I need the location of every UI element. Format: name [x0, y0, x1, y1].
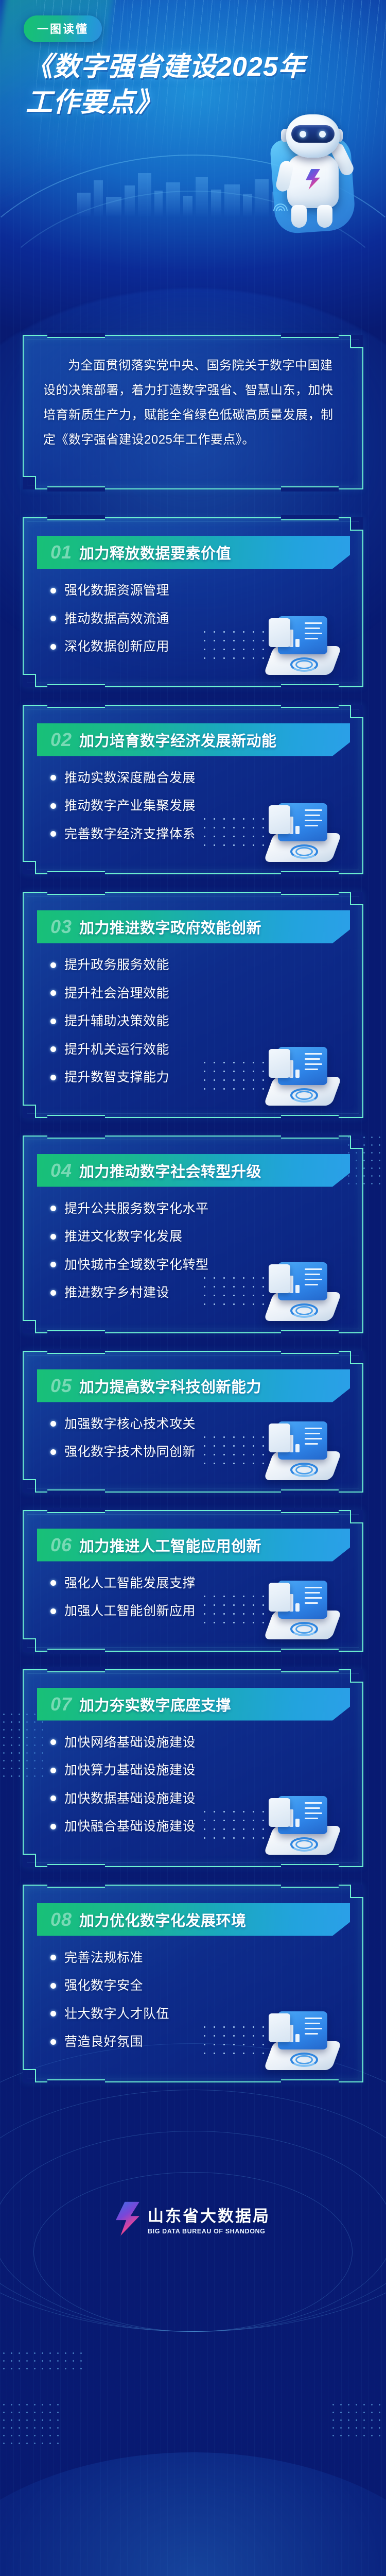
bullet-dot-icon	[50, 1608, 56, 1614]
section-header-ribbon: 02 加力培育数字经济发展新动能	[37, 723, 350, 756]
section-header-ribbon: 06 加力推进人工智能应用创新	[37, 1529, 350, 1562]
section-frame: 03 加力推进数字政府效能创新 提升政务服务效能 提升社会治理效能 提升辅助决策…	[23, 892, 363, 1118]
bullet-dot-icon	[50, 962, 56, 968]
section-title: 加力提高数字科技创新能力	[79, 1375, 261, 1397]
section-bullet-label: 强化数据资源管理	[64, 582, 169, 599]
footer-org-name-en: BIG DATA BUREAU OF SHANDONG	[148, 2228, 270, 2235]
section-bullet-label: 推动数据高效流通	[64, 611, 169, 628]
section-bullets: 加快网络基础设施建设 加快算力基础设施建设 加快数据基础设施建设 加快融合基础设…	[24, 1721, 362, 1849]
dot-grid	[329, 2401, 386, 2442]
section-bullet: 推进文化数字化发展	[50, 1228, 362, 1245]
section-bullets: 加强数字核心技术攻关 强化数字技术协同创新	[24, 1402, 362, 1474]
bullet-dot-icon	[50, 1739, 56, 1745]
section-bullets: 完善法规标准 强化数字安全 壮大数字人才队伍 营造良好氛围	[24, 1936, 362, 2064]
bullet-dot-icon	[50, 1019, 56, 1024]
section-bullet-label: 加快融合基础设施建设	[64, 1818, 196, 1835]
section-frame: 02 加力培育数字经济发展新动能 推动实数深度融合发展 推动数字产业集聚发展 完…	[23, 705, 363, 875]
section-bullet: 加快算力基础设施建设	[50, 1762, 362, 1779]
section-header-ribbon: 07 加力夯实数字底座支撑	[37, 1688, 350, 1721]
section-bullet: 加快数据基础设施建设	[50, 1790, 362, 1807]
section-number: 02	[50, 731, 72, 749]
section-bullet-label: 完善数字经济支撑体系	[64, 826, 196, 843]
bullet-dot-icon	[50, 990, 56, 996]
section-frame: 07 加力夯实数字底座支撑 加快网络基础设施建设 加快算力基础设施建设 加快数据…	[23, 1669, 363, 1867]
section-number: 01	[50, 543, 72, 562]
bullet-dot-icon	[50, 1046, 56, 1052]
mascot-visor	[291, 125, 335, 143]
section-bullets: 强化数据资源管理 推动数据高效流通 深化数据创新应用	[24, 569, 362, 669]
section-bullet: 壮大数字人才队伍	[50, 2006, 362, 2023]
section-title: 加力推进数字政府效能创新	[79, 916, 261, 938]
section-bullet: 提升政务服务效能	[50, 957, 362, 974]
section-bullet: 营造良好氛围	[50, 2033, 362, 2050]
section-card: 07 加力夯实数字底座支撑 加快网络基础设施建设 加快算力基础设施建设 加快数据…	[23, 1669, 363, 1867]
bullet-dot-icon	[50, 588, 56, 594]
bullet-dot-icon	[50, 1955, 56, 1960]
section-bullet: 推动实数深度融合发展	[50, 770, 362, 787]
mascot-eye-right	[319, 131, 326, 138]
section-bullet: 加快城市全域数字化转型	[50, 1257, 362, 1274]
section-number: 03	[50, 918, 72, 936]
intro-section: 为全面贯彻落实党中央、国务院关于数字中国建设的决策部署，着力打造数字强省、智慧山…	[0, 330, 386, 489]
section-number: 07	[50, 1695, 72, 1714]
section-header-ribbon: 04 加力推动数字社会转型升级	[37, 1154, 350, 1187]
bullet-dot-icon	[50, 1075, 56, 1080]
intro-paragraph: 为全面贯彻落实党中央、国务院关于数字中国建设的决策部署，着力打造数字强省、智慧山…	[24, 336, 362, 471]
section-bullet-label: 加强数字核心技术攻关	[64, 1416, 196, 1433]
section-bullet: 推动数据高效流通	[50, 611, 362, 628]
section-title: 加力推动数字社会转型升级	[79, 1160, 261, 1181]
section-bullet-label: 加快城市全域数字化转型	[64, 1257, 209, 1274]
section-bullet-label: 提升政务服务效能	[64, 957, 169, 974]
section-bullets: 提升政务服务效能 提升社会治理效能 提升辅助决策效能 提升机关运行效能 提升数智…	[24, 943, 362, 1099]
bullet-dot-icon	[50, 644, 56, 650]
bullet-dot-icon	[50, 1824, 56, 1829]
section-bullet-label: 提升公共服务数字化水平	[64, 1200, 209, 1217]
footer-logo: 山东省大数据局 BIG DATA BUREAU OF SHANDONG	[116, 2202, 270, 2236]
section-card: 04 加力推动数字社会转型升级 提升公共服务数字化水平 推进文化数字化发展 加快…	[23, 1136, 363, 1333]
section-bullet: 完善数字经济支撑体系	[50, 826, 362, 843]
bullet-dot-icon	[50, 1290, 56, 1296]
section-bullet-label: 加快算力基础设施建设	[64, 1762, 196, 1779]
section-bullet: 推进数字乡村建设	[50, 1284, 362, 1301]
bullet-dot-icon	[50, 1421, 56, 1427]
bullet-dot-icon	[50, 1234, 56, 1240]
mascot-leg-left	[291, 205, 307, 228]
section-bullet: 强化数据资源管理	[50, 582, 362, 599]
section-bullet-label: 加强人工智能创新应用	[64, 1603, 196, 1620]
bullet-dot-icon	[50, 2011, 56, 2016]
section-bullet-label: 提升机关运行效能	[64, 1041, 169, 1058]
shandong-bigdata-logo-icon	[116, 2202, 139, 2236]
section-bullet: 加强人工智能创新应用	[50, 1603, 362, 1620]
section-header-ribbon: 03 加力推进数字政府效能创新	[37, 910, 350, 943]
section-bullet: 完善法规标准	[50, 1950, 362, 1967]
section-title: 加力培育数字经济发展新动能	[79, 729, 277, 751]
section-card: 01 加力释放数据要素价值 强化数据资源管理 推动数据高效流通 深化数据创新应用	[23, 517, 363, 687]
section-bullet-label: 营造良好氛围	[64, 2033, 143, 2050]
robot-mascot-icon	[268, 111, 358, 240]
section-bullet: 提升辅助决策效能	[50, 1013, 362, 1030]
section-bullet-label: 提升社会治理效能	[64, 985, 169, 1002]
section-bullet-label: 提升数智支撑能力	[64, 1069, 169, 1086]
mascot-eye-left	[300, 131, 306, 138]
section-frame: 04 加力推动数字社会转型升级 提升公共服务数字化水平 推进文化数字化发展 加快…	[23, 1136, 363, 1333]
section-bullet: 加强数字核心技术攻关	[50, 1416, 362, 1433]
section-bullet: 深化数据创新应用	[50, 638, 362, 655]
bullet-dot-icon	[50, 2039, 56, 2045]
bullet-dot-icon	[50, 831, 56, 837]
section-bullet-label: 加快网络基础设施建设	[64, 1734, 196, 1751]
section-bullet-label: 推进数字乡村建设	[64, 1284, 169, 1301]
section-bullets: 提升公共服务数字化水平 推进文化数字化发展 加快城市全域数字化转型 推进数字乡村…	[24, 1187, 362, 1315]
bullet-dot-icon	[50, 1983, 56, 1989]
dot-grid	[0, 2401, 62, 2447]
section-bullet-label: 推进文化数字化发展	[64, 1228, 183, 1245]
background-glow-bottom	[0, 2452, 386, 2576]
bullet-dot-icon	[50, 1449, 56, 1455]
section-title: 加力优化数字化发展环境	[79, 1909, 247, 1930]
section-bullet-label: 强化数字安全	[64, 1977, 143, 1994]
section-frame: 05 加力提高数字科技创新能力 加强数字核心技术攻关 强化数字技术协同创新	[23, 1351, 363, 1493]
section-bullet: 加快融合基础设施建设	[50, 1818, 362, 1835]
section-bullet: 强化人工智能发展支撑	[50, 1575, 362, 1592]
section-bullet-label: 强化数字技术协同创新	[64, 1444, 196, 1461]
section-header-ribbon: 01 加力释放数据要素价值	[37, 536, 350, 569]
section-frame: 08 加力优化数字化发展环境 完善法规标准 强化数字安全 壮大数字人才队伍 营造…	[23, 1885, 363, 2082]
section-bullet-label: 强化人工智能发展支撑	[64, 1575, 196, 1592]
section-number: 05	[50, 1377, 72, 1395]
section-card: 08 加力优化数字化发展环境 完善法规标准 强化数字安全 壮大数字人才队伍 营造…	[23, 1885, 363, 2082]
section-bullet: 强化数字安全	[50, 1977, 362, 1994]
section-bullet-label: 推动数字产业集聚发展	[64, 798, 196, 815]
section-bullet-label: 壮大数字人才队伍	[64, 2006, 169, 2023]
section-bullet-label: 完善法规标准	[64, 1950, 143, 1967]
page-title-line1: 《数字强省建设2025年	[26, 49, 355, 85]
section-number: 08	[50, 1910, 72, 1929]
section-title: 加力夯实数字底座支撑	[79, 1693, 231, 1715]
page-header: 一图读懂 《数字强省建设2025年 工作要点》	[0, 0, 386, 330]
section-bullet: 提升机关运行效能	[50, 1041, 362, 1058]
section-number: 04	[50, 1161, 72, 1180]
wifi-signal-icon	[273, 198, 290, 211]
page-title: 《数字强省建设2025年 工作要点》	[26, 49, 355, 121]
section-bullet: 提升公共服务数字化水平	[50, 1200, 362, 1217]
section-bullets: 强化人工智能发展支撑 加强人工智能创新应用	[24, 1562, 362, 1633]
bullet-dot-icon	[50, 1206, 56, 1211]
bullet-dot-icon	[50, 1768, 56, 1773]
footer-org-name-cn: 山东省大数据局	[148, 2203, 270, 2226]
section-bullets: 推动实数深度融合发展 推动数字产业集聚发展 完善数字经济支撑体系	[24, 756, 362, 856]
section-bullet-label: 深化数据创新应用	[64, 638, 169, 655]
section-card: 03 加力推进数字政府效能创新 提升政务服务效能 提升社会治理效能 提升辅助决策…	[23, 892, 363, 1118]
section-number: 06	[50, 1536, 72, 1554]
mascot-leg-right	[317, 205, 332, 228]
section-card: 05 加力提高数字科技创新能力 加强数字核心技术攻关 强化数字技术协同创新	[23, 1351, 363, 1493]
read-in-one-picture-badge: 一图读懂	[24, 15, 102, 42]
section-card: 06 加力推进人工智能应用创新 强化人工智能发展支撑 加强人工智能创新应用	[23, 1510, 363, 1652]
bullet-dot-icon	[50, 803, 56, 809]
sections-list: 01 加力释放数据要素价值 强化数据资源管理 推动数据高效流通 深化数据创新应用	[0, 517, 386, 2082]
bullet-dot-icon	[50, 1262, 56, 1267]
section-bullet: 提升社会治理效能	[50, 985, 362, 1002]
intro-card: 为全面贯彻落实党中央、国务院关于数字中国建设的决策部署，着力打造数字强省、智慧山…	[23, 335, 363, 489]
section-bullet: 加快网络基础设施建设	[50, 1734, 362, 1751]
section-bullet-label: 推动实数深度融合发展	[64, 770, 196, 787]
section-frame: 01 加力释放数据要素价值 强化数据资源管理 推动数据高效流通 深化数据创新应用	[23, 517, 363, 687]
bullet-dot-icon	[50, 1580, 56, 1586]
section-bullet: 强化数字技术协同创新	[50, 1444, 362, 1461]
bullet-dot-icon	[50, 1795, 56, 1801]
section-bullet: 推动数字产业集聚发展	[50, 798, 362, 815]
section-header-ribbon: 05 加力提高数字科技创新能力	[37, 1369, 350, 1402]
dot-grid	[0, 2349, 82, 2370]
section-header-ribbon: 08 加力优化数字化发展环境	[37, 1903, 350, 1936]
section-bullet-label: 提升辅助决策效能	[64, 1013, 169, 1030]
bullet-dot-icon	[50, 775, 56, 781]
bullet-dot-icon	[50, 616, 56, 621]
section-bullet-label: 加快数据基础设施建设	[64, 1790, 196, 1807]
section-title: 加力推进人工智能应用创新	[79, 1534, 261, 1556]
section-title: 加力释放数据要素价值	[79, 541, 231, 563]
section-card: 02 加力培育数字经济发展新动能 推动实数深度融合发展 推动数字产业集聚发展 完…	[23, 705, 363, 875]
section-frame: 06 加力推进人工智能应用创新 强化人工智能发展支撑 加强人工智能创新应用	[23, 1510, 363, 1652]
page-footer: 山东省大数据局 BIG DATA BUREAU OF SHANDONG	[0, 2100, 386, 2270]
section-bullet: 提升数智支撑能力	[50, 1069, 362, 1086]
